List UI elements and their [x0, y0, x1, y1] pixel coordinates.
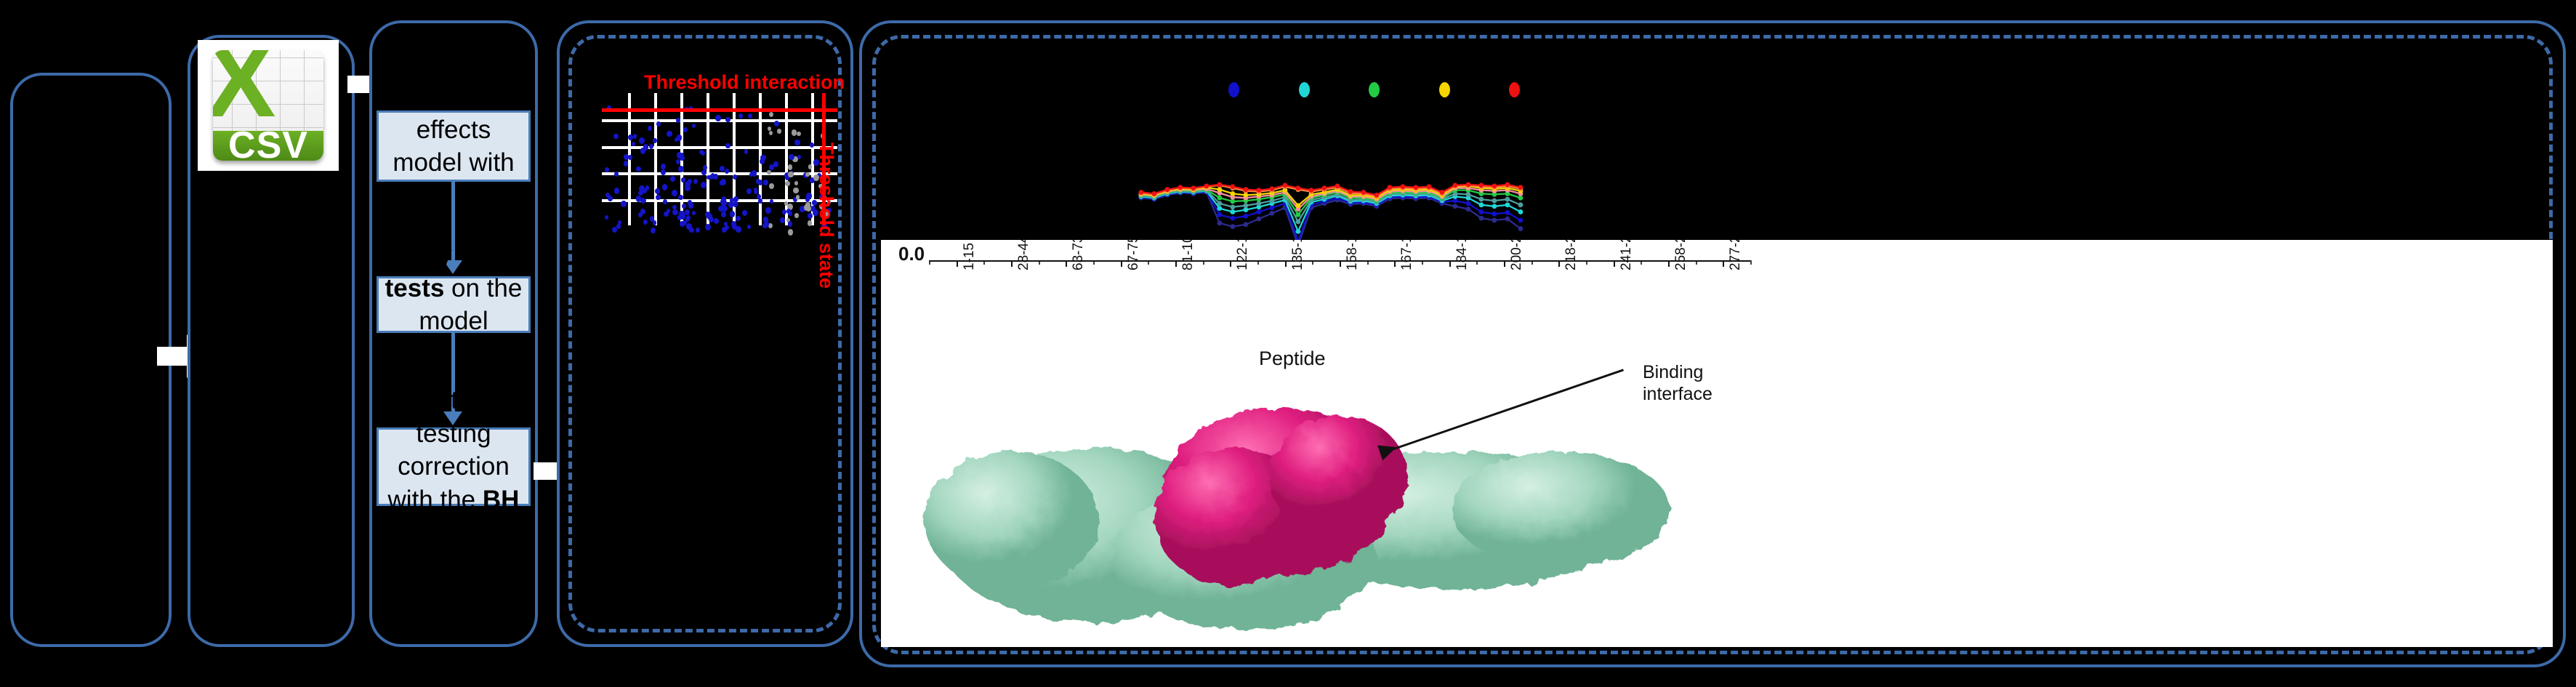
- scatter-point-nonsignificant: [794, 181, 798, 185]
- scatter-point-significant: [794, 140, 800, 145]
- scatter-point-significant: [742, 210, 747, 216]
- scatter-point-significant: [693, 179, 698, 184]
- peptide-tick-minor: [1148, 260, 1149, 265]
- scatter-point-significant: [736, 226, 741, 233]
- peptide-tick-label: 135-144: [1290, 240, 1306, 270]
- peptide-tick-minor: [1668, 260, 1670, 265]
- line-series-point: [1492, 183, 1497, 188]
- scatter-point-significant: [656, 195, 660, 200]
- peptide-tick-label: 200-214: [1509, 240, 1525, 270]
- peptide-tick-minor: [1093, 260, 1095, 265]
- line-series-point: [1492, 204, 1497, 209]
- peptide-tick-label: 277-284: [1728, 240, 1744, 270]
- scatter-point-nonsignificant: [788, 172, 794, 178]
- scatter-point-significant: [672, 209, 677, 215]
- peptide-axis-title: Peptide: [1259, 347, 1326, 370]
- line-series-point: [1230, 184, 1235, 189]
- binding-interface-annotation: Binding interface: [1643, 362, 1712, 405]
- line-series-point: [1230, 209, 1235, 214]
- line-series-point: [1243, 187, 1248, 192]
- scatter-point-significant: [605, 215, 608, 220]
- input-panel: [10, 73, 172, 647]
- line-series-point: [1466, 206, 1471, 212]
- scatter-point-significant: [720, 166, 725, 172]
- peptide-tick-minor: [1257, 260, 1259, 265]
- peptide-tick-minor: [1175, 260, 1177, 265]
- scatter-point-significant: [733, 201, 738, 207]
- line-series-point: [1518, 202, 1524, 207]
- step-box-reml: Fit a linear mixed-effects model with RE…: [377, 111, 531, 182]
- line-series-point: [1492, 198, 1497, 204]
- line-series-point: [1479, 197, 1484, 202]
- scatter-point-significant: [624, 154, 629, 160]
- line-series-point: [1492, 218, 1497, 223]
- threshold-line-horizontal: [602, 108, 837, 112]
- scatter-point-significant: [662, 184, 668, 190]
- peptide-tick-minor: [1422, 260, 1423, 265]
- scatter-point-significant: [714, 218, 719, 224]
- scatter-point-significant: [685, 209, 690, 215]
- scatter-point-significant: [653, 138, 657, 143]
- line-series-point: [1151, 191, 1156, 196]
- scatter-point-nonsignificant: [808, 220, 813, 226]
- scatter-point-significant: [677, 215, 681, 220]
- line-series-point: [1518, 185, 1524, 190]
- scatter-point-significant: [738, 113, 743, 118]
- binding-interface-line1: Binding: [1643, 362, 1712, 384]
- line-series-point: [1269, 186, 1274, 191]
- csv-icon-card: X CSV: [198, 40, 339, 171]
- scatter-point-significant: [651, 228, 656, 233]
- peptide-tick-minor: [929, 260, 930, 265]
- peptide-tick-minor: [1504, 260, 1505, 265]
- csv-letter-x: X: [217, 52, 264, 109]
- scatter-point-nonsignificant: [797, 132, 801, 137]
- peptide-tick-minor: [1066, 260, 1067, 265]
- peptide-tick-label: 122-129: [1235, 240, 1251, 270]
- peptide-tick-label: 67-75: [1126, 240, 1142, 270]
- legend-marker-4: [1439, 82, 1450, 97]
- scatter-gridline-vertical: [654, 93, 657, 225]
- scatter-point-significant: [616, 224, 620, 228]
- scatter-gridline-horizontal: [602, 146, 837, 149]
- scatter-point-significant: [686, 215, 691, 220]
- peptide-tick-minor: [1750, 260, 1752, 265]
- scatter-point-significant: [748, 113, 752, 118]
- peptide-tick-minor: [1039, 260, 1040, 265]
- scatter-point-significant: [797, 155, 801, 159]
- scatter-point-significant: [638, 212, 643, 217]
- scatter-point-significant: [628, 155, 632, 160]
- scatter-point-significant: [718, 206, 723, 212]
- scatter-point-nonsignificant: [767, 170, 771, 175]
- line-series-point: [1505, 202, 1510, 207]
- csv-icon-tile: X CSV: [213, 50, 323, 160]
- scatter-point-significant: [643, 144, 648, 150]
- scatter-point-significant: [728, 201, 733, 207]
- line-series-point: [1479, 209, 1484, 214]
- peptide-tick-minor: [1340, 260, 1341, 265]
- peptide-tick-minor: [1586, 260, 1587, 265]
- scatter-point-significant: [661, 164, 666, 169]
- scatter-point-significant: [643, 220, 648, 225]
- scatter-point-significant: [722, 196, 727, 202]
- scatter-point-significant: [656, 121, 661, 126]
- scatter-point-significant: [725, 169, 729, 174]
- peptide-tick-minor: [1723, 260, 1724, 265]
- scatter-point-significant: [692, 211, 696, 216]
- line-series-point: [1295, 212, 1300, 217]
- scatter-point-significant: [786, 209, 791, 214]
- scatter-point-significant: [605, 167, 609, 172]
- line-series-point: [1414, 185, 1419, 190]
- line-series-point: [1505, 217, 1510, 222]
- peptide-tick-label: 218-237: [1563, 240, 1579, 270]
- line-series-point: [1518, 209, 1524, 214]
- peptide-tick-label: 1-15: [962, 243, 978, 270]
- peptide-tick-minor: [1011, 260, 1013, 265]
- scatter-point-significant: [758, 198, 762, 203]
- line-series-point: [1308, 188, 1313, 193]
- scatter-point-significant: [765, 207, 771, 214]
- scatter-point-nonsignificant: [769, 112, 773, 117]
- line-series-point: [1256, 188, 1261, 193]
- scatter-gridline-vertical: [707, 93, 709, 225]
- line-series-point: [1282, 182, 1287, 188]
- scatter-point-significant: [746, 188, 752, 194]
- scatter-point-significant: [696, 228, 700, 233]
- scatter-point-significant: [808, 213, 813, 219]
- line-series-point: [1361, 190, 1367, 195]
- peptide-tick-label: 184-199: [1454, 240, 1470, 270]
- scatter-point-significant: [672, 190, 677, 196]
- scatter-point-significant: [754, 188, 757, 192]
- scatter-point-significant: [675, 137, 678, 142]
- binding-interface-line2: interface: [1643, 384, 1712, 406]
- scatter-point-significant: [715, 115, 721, 121]
- line-series-point: [1230, 191, 1235, 196]
- scatter-point-nonsignificant: [768, 126, 771, 131]
- peptide-line-chart: [885, 63, 2535, 252]
- step-box-bh: Multiple testing correctionwith the BH p…: [377, 427, 531, 506]
- scatter-plot: [602, 93, 837, 225]
- peptide-tick-label: 258-266: [1673, 240, 1689, 270]
- scatter-point-nonsignificant: [804, 204, 810, 211]
- line-series-point: [1518, 226, 1524, 231]
- scatter-point-significant: [773, 161, 778, 167]
- scatter-point-nonsignificant: [792, 129, 797, 135]
- threshold-interaction-label: Threshold interaction: [644, 71, 845, 94]
- line-series-point: [1178, 185, 1183, 190]
- scatter-point-significant: [683, 127, 688, 132]
- scatter-point-significant: [613, 134, 618, 139]
- scatter-point-significant: [780, 217, 784, 222]
- peptide-tick-minor: [1558, 260, 1560, 265]
- scatter-point-significant: [701, 170, 706, 175]
- line-series-point: [1505, 197, 1510, 202]
- line-series-point: [1243, 222, 1248, 227]
- scatter-point-significant: [810, 142, 814, 148]
- line-series-point: [1295, 185, 1300, 190]
- scatter-point-significant: [639, 137, 645, 144]
- scatter-point-nonsignificant: [768, 223, 773, 228]
- peptide-tick-minor: [1312, 260, 1313, 265]
- step-box-wald: Apply Wald tests on the model parameters: [377, 276, 531, 333]
- scatter-point-significant: [763, 180, 768, 185]
- scatter-point-nonsignificant: [794, 213, 799, 218]
- scatter-point-significant: [736, 216, 741, 222]
- peptide-tick-label: 28-44: [1016, 240, 1032, 270]
- line-series-point: [1164, 187, 1170, 192]
- peptide-tick-minor: [1121, 260, 1122, 265]
- peptide-tick-minor: [1531, 260, 1533, 265]
- line-series-point: [1401, 184, 1406, 189]
- legend-marker-2: [1299, 82, 1310, 97]
- scatter-point-significant: [760, 155, 765, 161]
- scatter-point-significant: [692, 124, 696, 128]
- scatter-point-significant: [670, 176, 675, 182]
- line-series-point: [1348, 189, 1353, 194]
- peptide-tick-minor: [1203, 260, 1204, 265]
- scatter-point-significant: [636, 166, 640, 172]
- scatter-point-significant: [667, 209, 670, 213]
- peptide-tick-minor: [957, 260, 958, 265]
- line-series-point: [1256, 209, 1261, 214]
- scatter-point-significant: [789, 154, 794, 161]
- scatter-point-nonsignificant: [805, 172, 809, 177]
- y-axis-tick-label: 0.0: [898, 243, 925, 265]
- line-series-point: [1256, 217, 1261, 222]
- line-series-point: [1374, 193, 1380, 198]
- line-series-point: [1321, 185, 1327, 190]
- scatter-point-significant: [721, 212, 725, 217]
- scatter-point-significant: [614, 188, 620, 194]
- line-series-point: [1466, 201, 1471, 206]
- peptide-tick-label: 63-73: [1071, 240, 1087, 270]
- line-series-point: [1217, 201, 1222, 206]
- scatter-point-nonsignificant: [788, 164, 792, 169]
- scatter-point-nonsignificant: [785, 181, 790, 187]
- scatter-point-significant: [701, 182, 707, 188]
- peptide-tick-minor: [1394, 260, 1396, 265]
- threshold-state-label: Threshold state: [815, 142, 837, 289]
- peptide-tick-minor: [1367, 260, 1369, 265]
- step-bh-text: Multiple testing correctionwith the BH p…: [385, 384, 523, 550]
- line-series-point: [1217, 212, 1222, 217]
- scatter-point-significant: [633, 134, 637, 138]
- scatter-point-significant: [805, 197, 810, 202]
- scatter-point-significant: [682, 204, 686, 209]
- peptide-tick-label: 241-257: [1619, 240, 1635, 270]
- scatter-point-significant: [680, 221, 685, 227]
- arrow-shaft: [157, 347, 190, 366]
- scatter-point-nonsignificant: [777, 129, 781, 134]
- line-series-point: [1230, 216, 1235, 221]
- scatter-point-significant: [685, 181, 691, 188]
- scatter-point-significant: [770, 199, 773, 204]
- peptide-tick-minor: [983, 260, 985, 265]
- scatter-point-significant: [667, 131, 672, 137]
- scatter-point-significant: [681, 177, 685, 182]
- scatter-point-significant: [774, 121, 780, 127]
- line-series-point: [1191, 185, 1196, 190]
- line-series-point: [1230, 224, 1235, 229]
- peptide-tick-minor: [1614, 260, 1615, 265]
- line-series-point: [1217, 182, 1222, 188]
- scatter-point-significant: [722, 227, 727, 233]
- scatter-point-significant: [744, 149, 749, 154]
- line-series-point: [1295, 229, 1300, 234]
- line-series: [1141, 190, 1521, 222]
- scatter-point-significant: [649, 144, 653, 149]
- scatter-point-significant: [655, 188, 660, 194]
- scatter-gridline-horizontal: [602, 172, 837, 175]
- scatter-point-significant: [725, 117, 730, 123]
- peptide-tick-minor: [1285, 260, 1287, 265]
- line-series-point: [1492, 212, 1497, 217]
- scatter-point-nonsignificant: [788, 229, 794, 236]
- line-series: [1141, 192, 1521, 241]
- line-series-point: [1440, 190, 1445, 195]
- line-series-point: [1453, 182, 1458, 188]
- peptide-axis-and-structure: 0.0 Peptide: [881, 240, 2553, 647]
- scatter-point-significant: [733, 174, 737, 180]
- scatter-point-significant: [707, 213, 712, 220]
- line-series-point: [1479, 202, 1484, 207]
- line-series-point: [1204, 183, 1209, 188]
- peptide-tick-minor: [1476, 260, 1478, 265]
- line-series-point: [1505, 210, 1510, 215]
- line-series-point: [1230, 204, 1235, 209]
- line-series-point: [1466, 182, 1471, 188]
- line-series-point: [1479, 182, 1484, 188]
- line-series-point: [1427, 184, 1432, 189]
- protein-structure-image: [903, 382, 1673, 637]
- scatter-point-nonsignificant: [793, 188, 799, 194]
- peptide-tick-minor: [1230, 260, 1231, 265]
- line-series-point: [1243, 214, 1248, 219]
- peptide-tick-minor: [1641, 260, 1642, 265]
- peptide-tick-label: 81-101: [1180, 240, 1196, 270]
- line-series-point: [1217, 206, 1222, 211]
- line-series-point: [1269, 211, 1274, 216]
- scatter-point-significant: [648, 126, 652, 131]
- peptide-tick-label: 167-180: [1399, 240, 1415, 270]
- scatter-point-nonsignificant: [769, 131, 773, 135]
- line-series-point: [1217, 220, 1222, 225]
- line-series-point: [1518, 218, 1524, 223]
- scatter-point-significant: [782, 209, 786, 214]
- peptide-tick-minor: [1696, 260, 1697, 265]
- scatter-point-significant: [621, 201, 627, 207]
- line-series-point: [1335, 183, 1340, 188]
- line-series-point: [1243, 203, 1248, 208]
- peptide-tick-label: 158-166: [1345, 240, 1361, 270]
- line-series-point: [1388, 185, 1393, 190]
- line-series-point: [1505, 182, 1510, 188]
- line-series-point: [1453, 204, 1458, 209]
- peptide-response-lines: [885, 63, 2535, 252]
- line-series-point: [1479, 216, 1484, 221]
- scatter-point-significant: [720, 180, 723, 185]
- line-series-point: [1295, 203, 1300, 208]
- scatter-point-nonsignificant: [769, 183, 774, 189]
- scatter-point-significant: [663, 199, 667, 204]
- line-series-point: [1138, 190, 1143, 195]
- scatter-point-significant: [643, 188, 647, 193]
- scatter-point-significant: [614, 172, 619, 177]
- line-series-point: [1295, 220, 1300, 225]
- scatter-point-nonsignificant: [796, 195, 800, 199]
- line-series: [1141, 191, 1521, 232]
- line-series-point: [1217, 196, 1222, 201]
- scatter-point-significant: [756, 179, 760, 184]
- peptide-tick-minor: [1449, 260, 1451, 265]
- scatter-point-nonsignificant: [808, 164, 813, 169]
- scatter-point-significant: [628, 134, 633, 140]
